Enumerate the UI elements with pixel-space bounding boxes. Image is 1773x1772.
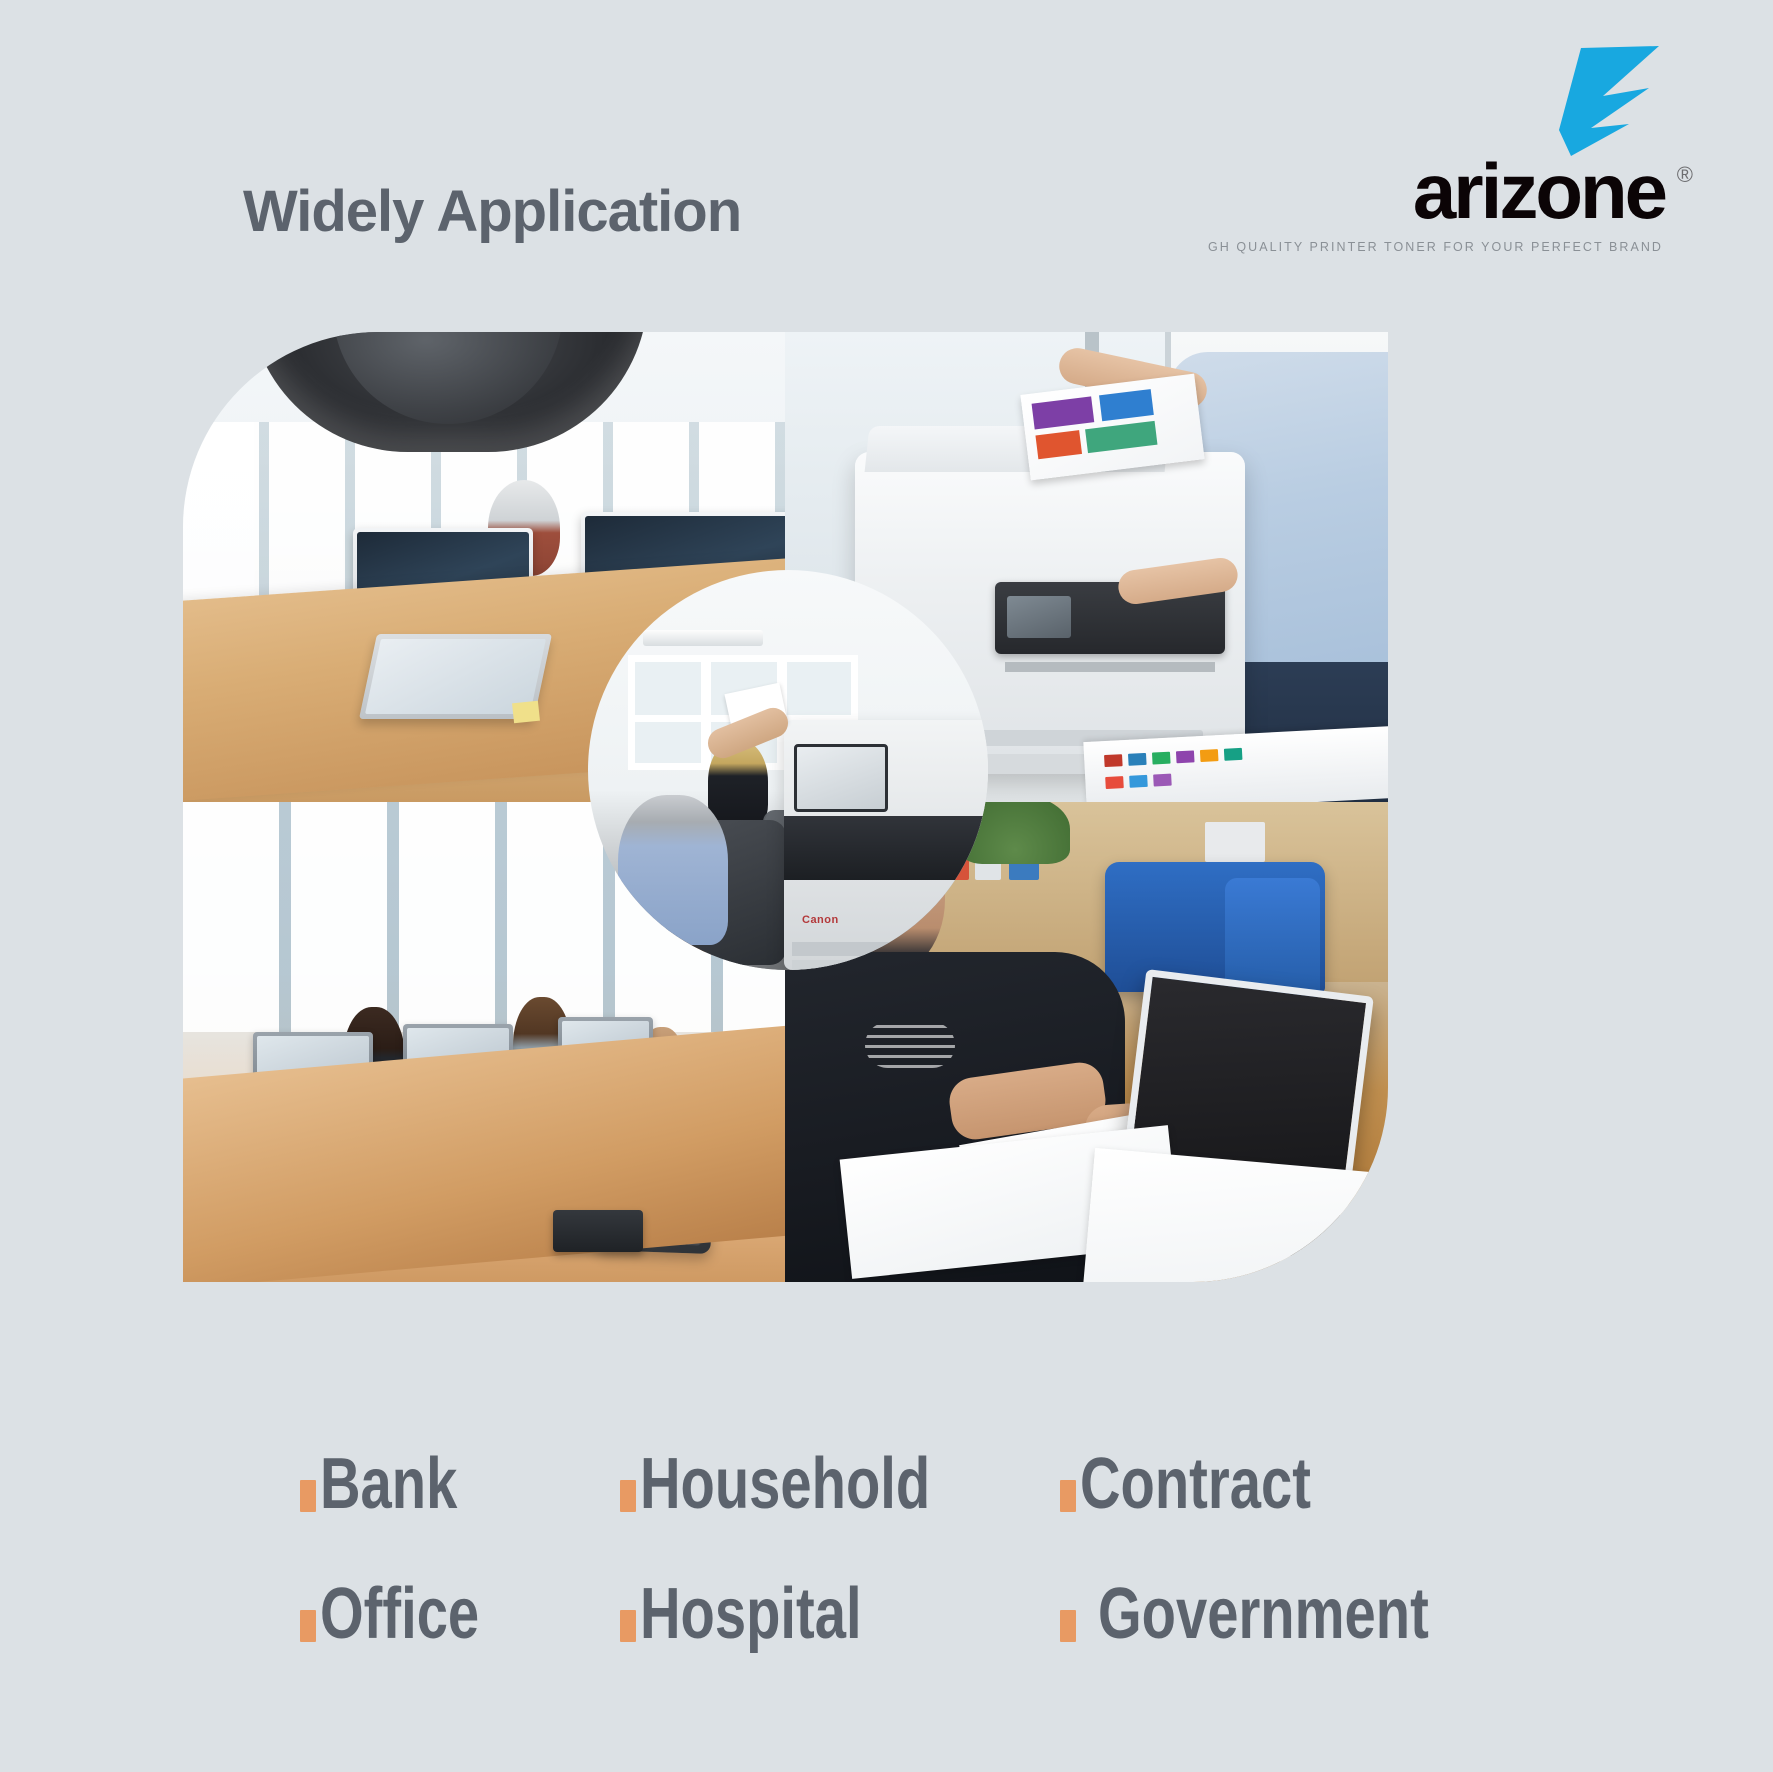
application-label: Contract [1080,1448,1311,1520]
application-label: Office [320,1578,479,1650]
brand-tagline: GH QUALITY PRINTER TONER FOR YOUR PERFEC… [1208,240,1663,254]
brand-logo: arizone ® GH QUALITY PRINTER TONER FOR Y… [1381,44,1711,259]
application-row-2: Office Hospital Government [300,1578,1720,1650]
application-item-household: Household [620,1448,1060,1520]
bullet-icon [300,1480,316,1512]
photo-office-copier-circle: Canon [588,570,988,970]
registered-mark: ® [1677,162,1693,188]
bullet-icon [1060,1610,1076,1642]
bullet-icon [300,1610,316,1642]
brand-wordmark: arizone [1413,152,1665,230]
application-label: Government [1098,1578,1429,1650]
application-label: Household [640,1448,930,1520]
application-label: Bank [320,1448,457,1520]
application-row-1: Bank Household Contract [300,1448,1720,1520]
application-item-contract: Contract [1060,1448,1376,1520]
bullet-icon [620,1480,636,1512]
bullet-icon [1060,1480,1076,1512]
application-item-government: Government [1060,1578,1522,1650]
application-item-office: Office [300,1578,620,1650]
application-label: Hospital [640,1578,862,1650]
application-item-hospital: Hospital [620,1578,1060,1650]
application-item-bank: Bank [300,1448,620,1520]
application-photo-collage: Canon [183,332,1388,1282]
page-title: Widely Application [243,178,741,245]
bullet-icon [620,1610,636,1642]
hummingbird-icon [1463,44,1663,156]
application-list: Bank Household Contract Office Hospital … [300,1448,1720,1650]
